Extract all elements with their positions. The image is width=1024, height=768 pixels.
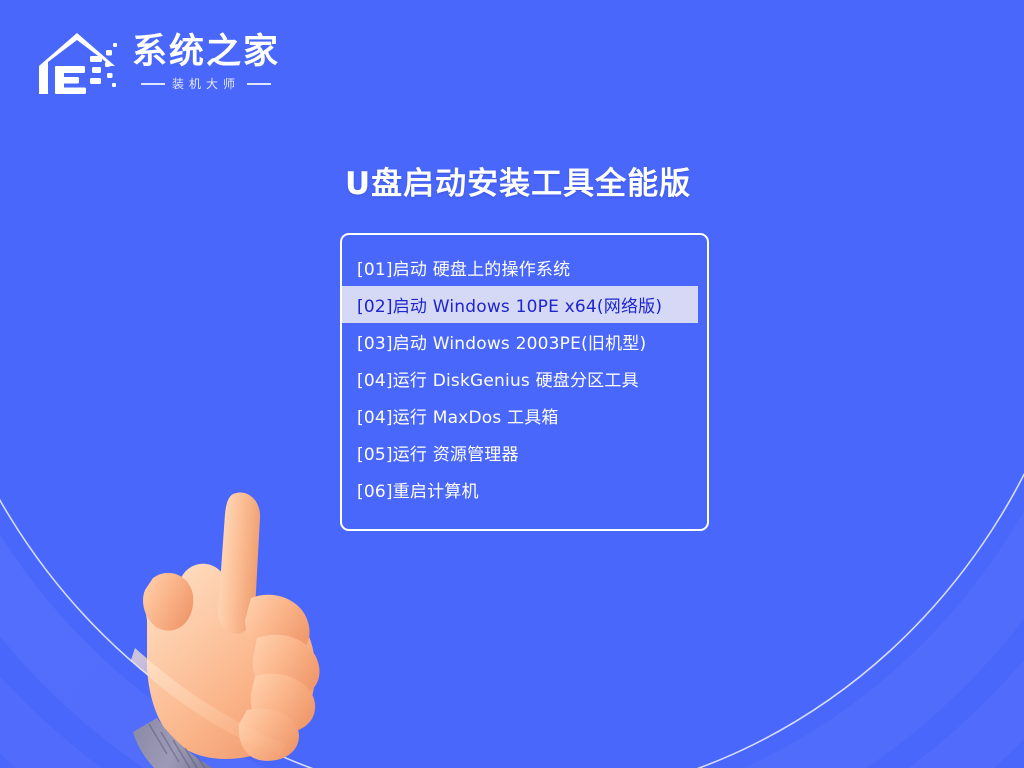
tagline-dash-right: [247, 83, 271, 85]
menu-item-05[interactable]: [05]运行 资源管理器: [342, 434, 707, 471]
house-pixel-logo-icon: [36, 26, 118, 100]
tagline-dash-left: [141, 83, 165, 85]
brand-name: 系统之家: [132, 34, 280, 71]
brand-tagline-row: 装机大师: [141, 75, 271, 92]
menu-item-02[interactable]: [02]启动 Windows 10PE x64(网络版): [342, 286, 698, 323]
menu-item-01[interactable]: [01]启动 硬盘上的操作系统: [342, 249, 707, 286]
boot-menu-screen: 系统之家 装机大师 U盘启动安装工具全能版 [01]启动 硬盘上的操作系统 [0…: [0, 0, 1024, 768]
brand-tagline: 装机大师: [172, 75, 240, 92]
menu-item-03[interactable]: [03]启动 Windows 2003PE(旧机型): [342, 323, 707, 360]
menu-item-04-diskgenius[interactable]: [04]运行 DiskGenius 硬盘分区工具: [342, 360, 707, 397]
page-title: U盘启动安装工具全能版: [345, 158, 691, 203]
pointing-hand-illustration: [105, 470, 405, 768]
brand-logo: 系统之家 装机大师: [36, 18, 296, 108]
menu-item-04-maxdos[interactable]: [04]运行 MaxDos 工具箱: [342, 397, 707, 434]
